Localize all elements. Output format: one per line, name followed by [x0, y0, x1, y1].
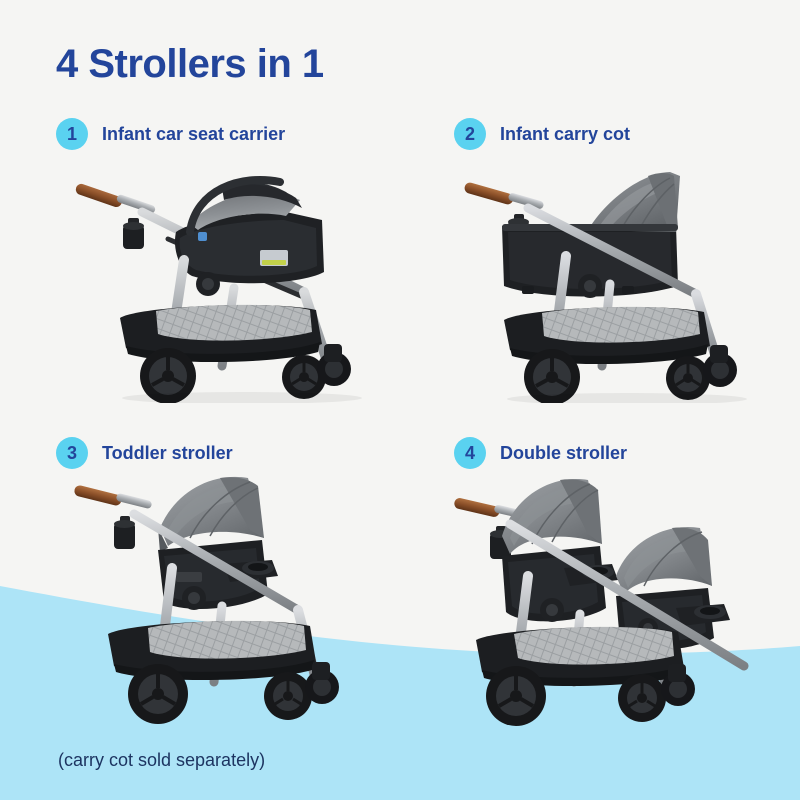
page-title: 4 Strollers in 1: [56, 42, 324, 87]
stroller-infographic: 4 Strollers in 1 1 Infant car seat carri…: [0, 0, 800, 800]
rear-caster-2: [703, 345, 737, 387]
stroller-image-1: [72, 168, 372, 403]
mode-label-1: 1 Infant car seat carrier: [56, 118, 285, 150]
mode-label-text-1: Infant car seat carrier: [102, 124, 285, 145]
mode-label-2: 2 Infant carry cot: [454, 118, 630, 150]
footnote-text: (carry cot sold separately): [58, 750, 265, 771]
cup-holder-3: [114, 516, 135, 549]
cup-holder-1: [123, 218, 144, 249]
rear-wheel-4: [486, 666, 546, 726]
mode-label-4: 4 Double stroller: [454, 437, 627, 469]
stroller-image-3: [72, 468, 372, 730]
badge-number-3: 3: [56, 437, 88, 469]
stroller-image-4: [452, 468, 774, 730]
mode-label-text-2: Infant carry cot: [500, 124, 630, 145]
rear-wheel-3: [128, 664, 188, 724]
mode-label-3: 3 Toddler stroller: [56, 437, 233, 469]
stroller-image-2: [462, 168, 762, 403]
front-seat-canopy-4: [616, 527, 712, 594]
front-wheel-2: [666, 356, 710, 400]
storage-basket-1: [120, 305, 322, 362]
badge-number-1: 1: [56, 118, 88, 150]
infant-car-seat-1: [175, 180, 324, 283]
badge-number-2: 2: [454, 118, 486, 150]
front-wheel-3: [264, 672, 312, 720]
mode-label-text-3: Toddler stroller: [102, 443, 233, 464]
badge-number-4: 4: [454, 437, 486, 469]
mode-label-text-4: Double stroller: [500, 443, 627, 464]
handle-bar-3: [73, 484, 152, 509]
middle-wheel-4: [618, 674, 666, 722]
rear-seat-canopy-4: [502, 479, 602, 554]
